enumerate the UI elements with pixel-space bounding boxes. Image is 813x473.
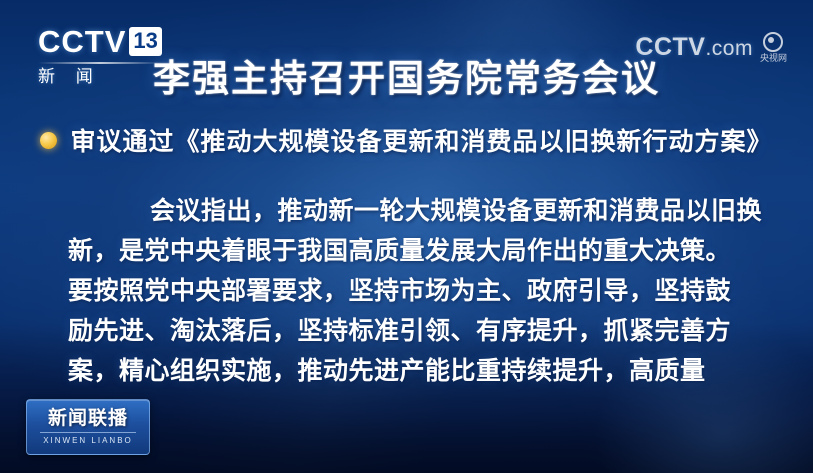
- body-line: 要按照党中央部署要求，坚持市场为主、政府引导，坚持鼓: [68, 272, 753, 312]
- bullet-dot-icon: [40, 132, 57, 149]
- program-bug: 新闻联播 XINWEN LIANBO: [26, 399, 150, 455]
- subheadline: 审议通过《推动大规模设备更新和消费品以旧换新行动方案》: [0, 122, 813, 158]
- program-bug-underline: [40, 432, 136, 433]
- body-paragraph: 会议指出，推动新一轮大规模设备更新和消费品以旧换 新，是党中央着眼于我国高质量发…: [68, 192, 753, 392]
- broadcast-screenshot: CCTV 13 新 闻 CCTV.com 央视网 李强主持召开国务院常务会议 审…: [0, 0, 813, 473]
- body-line: 案，精心组织实施，推动先进产能比重持续提升，高质量: [68, 352, 753, 392]
- program-bug-name-latin: XINWEN LIANBO: [43, 436, 133, 445]
- headline-text: 李强主持召开国务院常务会议: [153, 48, 660, 102]
- headline: 李强主持召开国务院常务会议: [0, 48, 813, 102]
- program-bug-name: 新闻联播: [48, 409, 128, 430]
- subheadline-text: 审议通过《推动大规模设备更新和消费品以旧换新行动方案》: [70, 122, 772, 158]
- body-line: 会议指出，推动新一轮大规模设备更新和消费品以旧换: [68, 192, 753, 232]
- body-line: 新，是党中央着眼于我国高质量发展大局作出的重大决策。: [68, 232, 753, 272]
- body-line: 励先进、淘汰落后，坚持标准引领、有序提升，抓紧完善方: [68, 312, 753, 352]
